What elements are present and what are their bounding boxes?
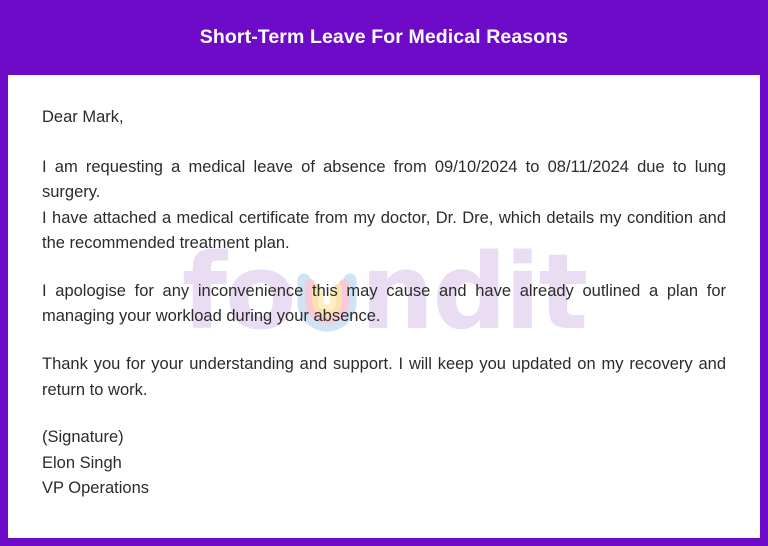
spacer <box>42 330 726 352</box>
spacer <box>42 131 726 155</box>
letter-paragraph-apology: I apologise for any inconvenience this m… <box>42 279 726 330</box>
letter-salutation: Dear Mark, <box>42 105 726 131</box>
letter-body: Dear Mark, I am requesting a medical lea… <box>42 105 726 502</box>
letter-paragraph-request: I am requesting a medical leave of absen… <box>42 155 726 206</box>
document-header-band: Short-Term Leave For Medical Reasons <box>0 0 768 75</box>
signature-designation: VP Operations <box>42 476 726 502</box>
letter-paragraph-certificate: I have attached a medical certificate fr… <box>42 206 726 257</box>
document-sheet: fo ndit <box>8 75 760 538</box>
letter-paragraph-thanks: Thank you for your understanding and sup… <box>42 352 726 403</box>
document-title: Short-Term Leave For Medical Reasons <box>200 26 568 49</box>
spacer <box>42 403 726 425</box>
leave-letter-document: Short-Term Leave For Medical Reasons fo <box>0 0 768 546</box>
spacer <box>42 257 726 279</box>
signature-placeholder: (Signature) <box>42 425 726 451</box>
document-purple-frame: fo ndit <box>0 75 768 546</box>
signature-name: Elon Singh <box>42 451 726 477</box>
